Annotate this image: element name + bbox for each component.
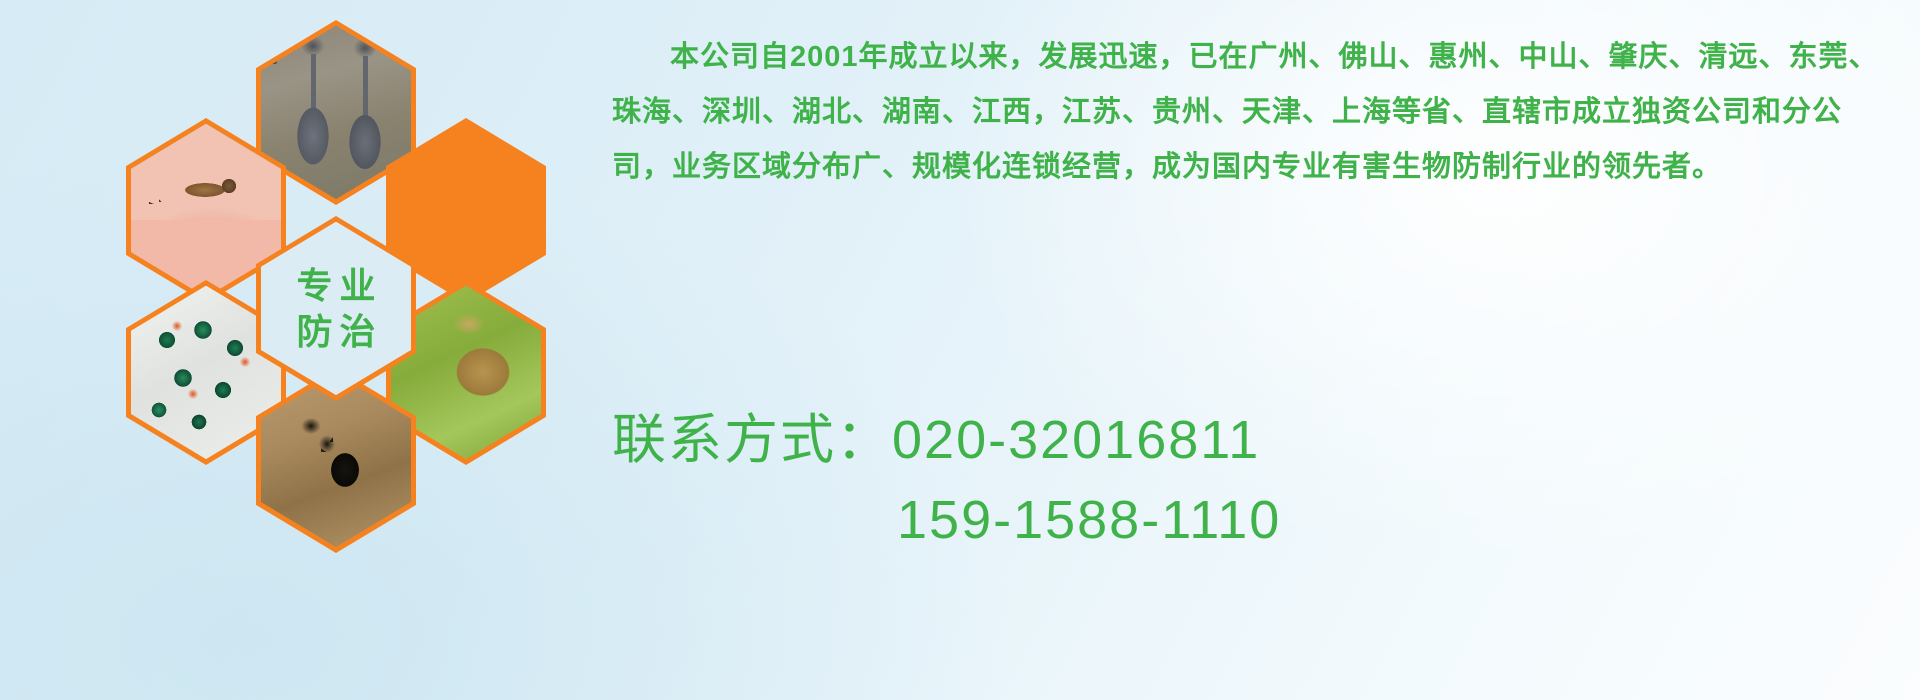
contact-secondary-line: 159-1588-1110 — [612, 480, 1882, 560]
contact-phone-secondary[interactable]: 159-1588-1110 — [897, 490, 1281, 550]
contact-label: 联系方式： — [612, 410, 892, 470]
contact-phone-primary[interactable]: 020-32016811 — [892, 410, 1260, 470]
logo-slogan-line1: 专业 — [289, 267, 382, 305]
company-intro-block: 本公司自2001年成立以来，发展迅速，已在广州、佛山、惠州、中山、肇庆、清远、东… — [612, 30, 1882, 195]
contact-primary-line: 联系方式：020-32016811 — [612, 400, 1882, 480]
pest-control-banner: 专业 防治 本公司自2001年成立以来，发展迅速，已在广州、佛山、惠州、中山、肇… — [0, 0, 1920, 700]
hexagon-photo-cluster: 专业 防治 — [88, 8, 588, 553]
logo-slogan-line2: 防治 — [289, 313, 382, 351]
logo-slogan: 专业 防治 — [261, 222, 411, 396]
hexagon-logo-inner: 专业 防治 — [261, 222, 411, 396]
company-intro-paragraph: 本公司自2001年成立以来，发展迅速，已在广州、佛山、惠州、中山、肇庆、清远、东… — [612, 30, 1882, 195]
contact-block: 联系方式：020-32016811 159-1588-1110 — [612, 400, 1882, 560]
